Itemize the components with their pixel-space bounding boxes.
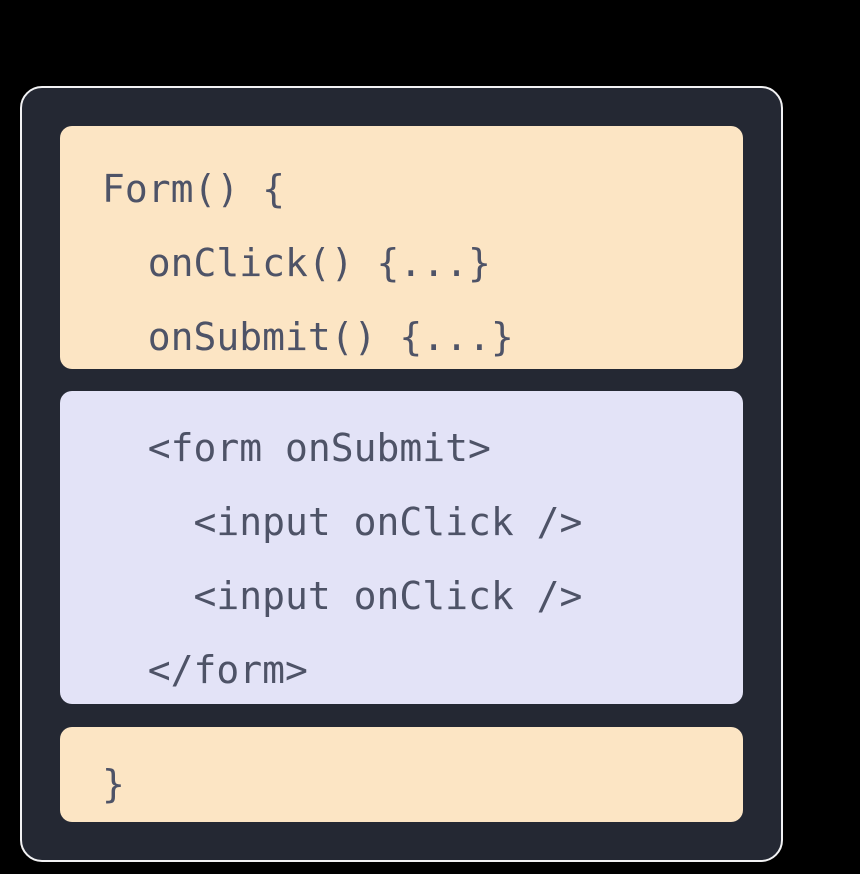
code-line: <form onSubmit> (60, 411, 743, 485)
code-card: Form() { onClick() {...} onSubmit() {...… (20, 86, 783, 862)
code-line: onClick() {...} (60, 226, 743, 300)
code-line: <input onClick /> (60, 559, 743, 633)
code-line: } (60, 747, 743, 821)
code-line: <input onClick /> (60, 485, 743, 559)
page-root: Form() { onClick() {...} onSubmit() {...… (0, 0, 860, 874)
code-panel-component-top: Form() { onClick() {...} onSubmit() {...… (60, 126, 743, 369)
code-panel-markup-middle: <form onSubmit> <input onClick /> <input… (60, 391, 743, 704)
code-panel-component-bottom: } (60, 727, 743, 822)
code-line: onSubmit() {...} (60, 300, 743, 369)
code-line: Form() { (60, 152, 743, 226)
code-line: </form> (60, 633, 743, 704)
